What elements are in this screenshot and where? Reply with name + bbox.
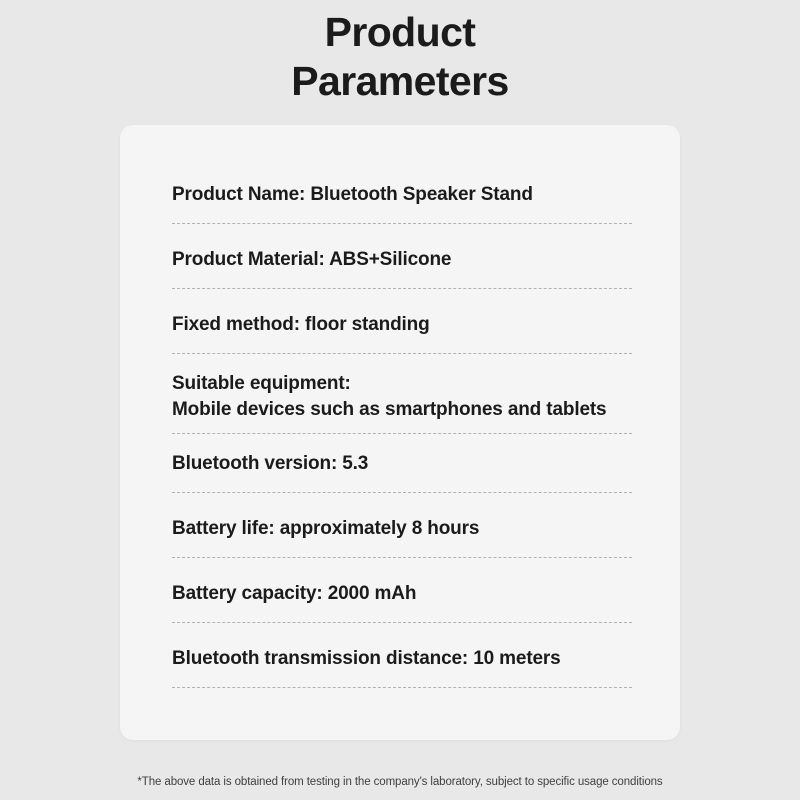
- spec-row-battery-life: Battery life: approximately 8 hours: [172, 516, 632, 558]
- spec-row-product-material: Product Material: ABS+Silicone: [172, 247, 632, 289]
- spec-row-bluetooth-version: Bluetooth version: 5.3: [172, 451, 632, 493]
- spec-row-product-name: Product Name: Bluetooth Speaker Stand: [172, 182, 632, 224]
- spec-divider: [172, 557, 632, 558]
- page-title-line-1: Product: [0, 8, 800, 57]
- spec-label-suitable-equipment: Suitable equipment:: [172, 371, 632, 397]
- spec-divider: [172, 353, 632, 354]
- page-title: Product Parameters: [0, 8, 800, 106]
- spec-card: Product Name: Bluetooth Speaker Stand Pr…: [120, 125, 680, 740]
- spec-label-fixed-method: Fixed method: floor standing: [172, 312, 632, 338]
- spec-divider: [172, 492, 632, 493]
- spec-label-product-material: Product Material: ABS+Silicone: [172, 247, 632, 273]
- spec-label-battery-life: Battery life: approximately 8 hours: [172, 516, 632, 542]
- spec-divider: [172, 288, 632, 289]
- spec-row-battery-capacity: Battery capacity: 2000 mAh: [172, 581, 632, 623]
- page-title-line-2: Parameters: [0, 57, 800, 106]
- spec-list: Product Name: Bluetooth Speaker Stand Pr…: [172, 182, 632, 688]
- spec-row-fixed-method: Fixed method: floor standing: [172, 312, 632, 354]
- spec-divider: [172, 433, 632, 434]
- spec-label-bluetooth-version: Bluetooth version: 5.3: [172, 451, 632, 477]
- spec-row-suitable-equipment: Suitable equipment: Mobile devices such …: [172, 371, 632, 434]
- spec-label-product-name: Product Name: Bluetooth Speaker Stand: [172, 182, 632, 208]
- spec-divider: [172, 223, 632, 224]
- spec-row-transmission-distance: Bluetooth transmission distance: 10 mete…: [172, 646, 632, 688]
- spec-value-suitable-equipment: Mobile devices such as smartphones and t…: [172, 397, 632, 423]
- spec-divider: [172, 622, 632, 623]
- spec-label-battery-capacity: Battery capacity: 2000 mAh: [172, 581, 632, 607]
- spec-label-transmission-distance: Bluetooth transmission distance: 10 mete…: [172, 646, 632, 672]
- disclaimer-footnote: *The above data is obtained from testing…: [0, 775, 800, 790]
- spec-divider: [172, 687, 632, 688]
